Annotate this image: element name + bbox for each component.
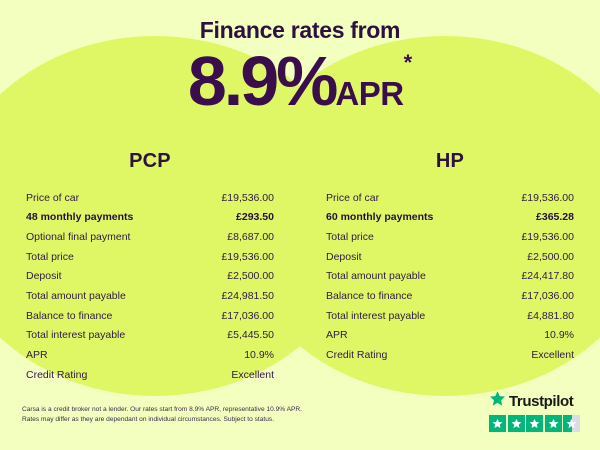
table-row: APR10.9% [326, 326, 574, 346]
trustpilot-star-filled [545, 415, 562, 432]
disclaimer-line-1: Carsa is a credit broker not a lender. O… [22, 405, 352, 416]
table-row: Total amount payable£24,417.80 [326, 267, 574, 287]
row-label: Deposit [26, 271, 62, 282]
page-title: Finance rates from [0, 0, 600, 44]
trustpilot-star-filled [489, 415, 506, 432]
plan-columns: PCP Price of car£19,536.0048 monthly pay… [0, 150, 600, 385]
row-value: £365.28 [536, 212, 574, 223]
row-value: £19,536.00 [221, 193, 274, 204]
row-value: £19,536.00 [521, 193, 574, 204]
row-label: Total interest payable [326, 311, 425, 322]
trustpilot-wordmark: Trustpilot [509, 393, 573, 410]
row-value: 10.9% [544, 330, 574, 341]
plan-pcp-title: PCP [14, 150, 286, 173]
row-value: £2,500.00 [227, 271, 274, 282]
row-value: Excellent [231, 370, 274, 381]
row-value: Excellent [531, 350, 574, 361]
row-label: Credit Rating [26, 370, 87, 381]
row-value: £2,500.00 [527, 252, 574, 263]
row-label: Price of car [326, 193, 379, 204]
table-row: Total interest payable£5,445.50 [26, 326, 274, 346]
plan-pcp-rows: Price of car£19,536.0048 monthly payment… [14, 188, 286, 385]
row-value: £4,881.80 [527, 311, 574, 322]
row-label: 60 monthly payments [326, 212, 433, 223]
table-row: Balance to finance£17,036.00 [26, 306, 274, 326]
table-row: Total amount payable£24,981.50 [26, 286, 274, 306]
row-label: 48 monthly payments [26, 212, 133, 223]
trustpilot-star-filled [508, 415, 525, 432]
row-label: Total price [326, 232, 374, 243]
table-row: Balance to finance£17,036.00 [326, 286, 574, 306]
plan-hp-title: HP [314, 150, 586, 173]
row-label: Optional final payment [26, 232, 130, 243]
row-label: APR [326, 330, 348, 341]
row-label: Total amount payable [26, 291, 126, 302]
row-label: Deposit [326, 252, 362, 263]
rate-asterisk: * [404, 50, 413, 75]
plan-pcp: PCP Price of car£19,536.0048 monthly pay… [0, 150, 300, 385]
row-value: £17,036.00 [221, 311, 274, 322]
table-row: 48 monthly payments£293.50 [26, 208, 274, 228]
table-row: Total price£19,536.00 [326, 227, 574, 247]
trustpilot-rating-stars [489, 415, 585, 432]
row-value: £293.50 [236, 212, 274, 223]
table-row: Deposit£2,500.00 [26, 267, 274, 287]
table-row: 60 monthly payments£365.28 [326, 208, 574, 228]
row-label: Price of car [26, 193, 79, 204]
table-row: Price of car£19,536.00 [26, 188, 274, 208]
row-value: £24,417.80 [521, 271, 574, 282]
rate-value: 8.9% [188, 42, 336, 120]
row-label: Balance to finance [326, 291, 412, 302]
row-label: Total interest payable [26, 330, 125, 341]
row-value: 10.9% [244, 350, 274, 361]
row-value: £17,036.00 [521, 291, 574, 302]
row-label: Balance to finance [26, 311, 112, 322]
row-value: £19,536.00 [521, 232, 574, 243]
trustpilot-header: Trustpilot [489, 390, 585, 412]
table-row: APR10.9% [26, 346, 274, 366]
trustpilot-badge[interactable]: Trustpilot [489, 390, 585, 432]
row-value: £19,536.00 [221, 252, 274, 263]
table-row: Optional final payment£8,687.00 [26, 227, 274, 247]
rate-suffix: APR [335, 75, 403, 112]
row-label: Total amount payable [326, 271, 426, 282]
table-row: Credit RatingExcellent [26, 365, 274, 385]
table-row: Total price£19,536.00 [26, 247, 274, 267]
finance-rates-card: Finance rates from 8.9%APR* PCP Price of… [0, 0, 600, 450]
row-label: Total price [26, 252, 74, 263]
trustpilot-star-filled [526, 415, 543, 432]
table-row: Credit RatingExcellent [326, 346, 574, 366]
row-value: £5,445.50 [227, 330, 274, 341]
trustpilot-star-half [563, 415, 580, 432]
disclaimer: Carsa is a credit broker not a lender. O… [22, 405, 352, 426]
table-row: Deposit£2,500.00 [326, 247, 574, 267]
disclaimer-line-2: Rates may differ as they are dependant o… [22, 415, 352, 426]
row-value: £24,981.50 [221, 291, 274, 302]
row-label: APR [26, 350, 48, 361]
plan-hp: HP Price of car£19,536.0060 monthly paym… [300, 150, 600, 385]
trustpilot-star-icon [489, 390, 506, 412]
table-row: Price of car£19,536.00 [326, 188, 574, 208]
row-value: £8,687.00 [227, 232, 274, 243]
row-label: Credit Rating [326, 350, 387, 361]
plan-hp-rows: Price of car£19,536.0060 monthly payment… [314, 188, 586, 365]
table-row: Total interest payable£4,881.80 [326, 306, 574, 326]
headline-rate: 8.9%APR* [0, 46, 600, 116]
